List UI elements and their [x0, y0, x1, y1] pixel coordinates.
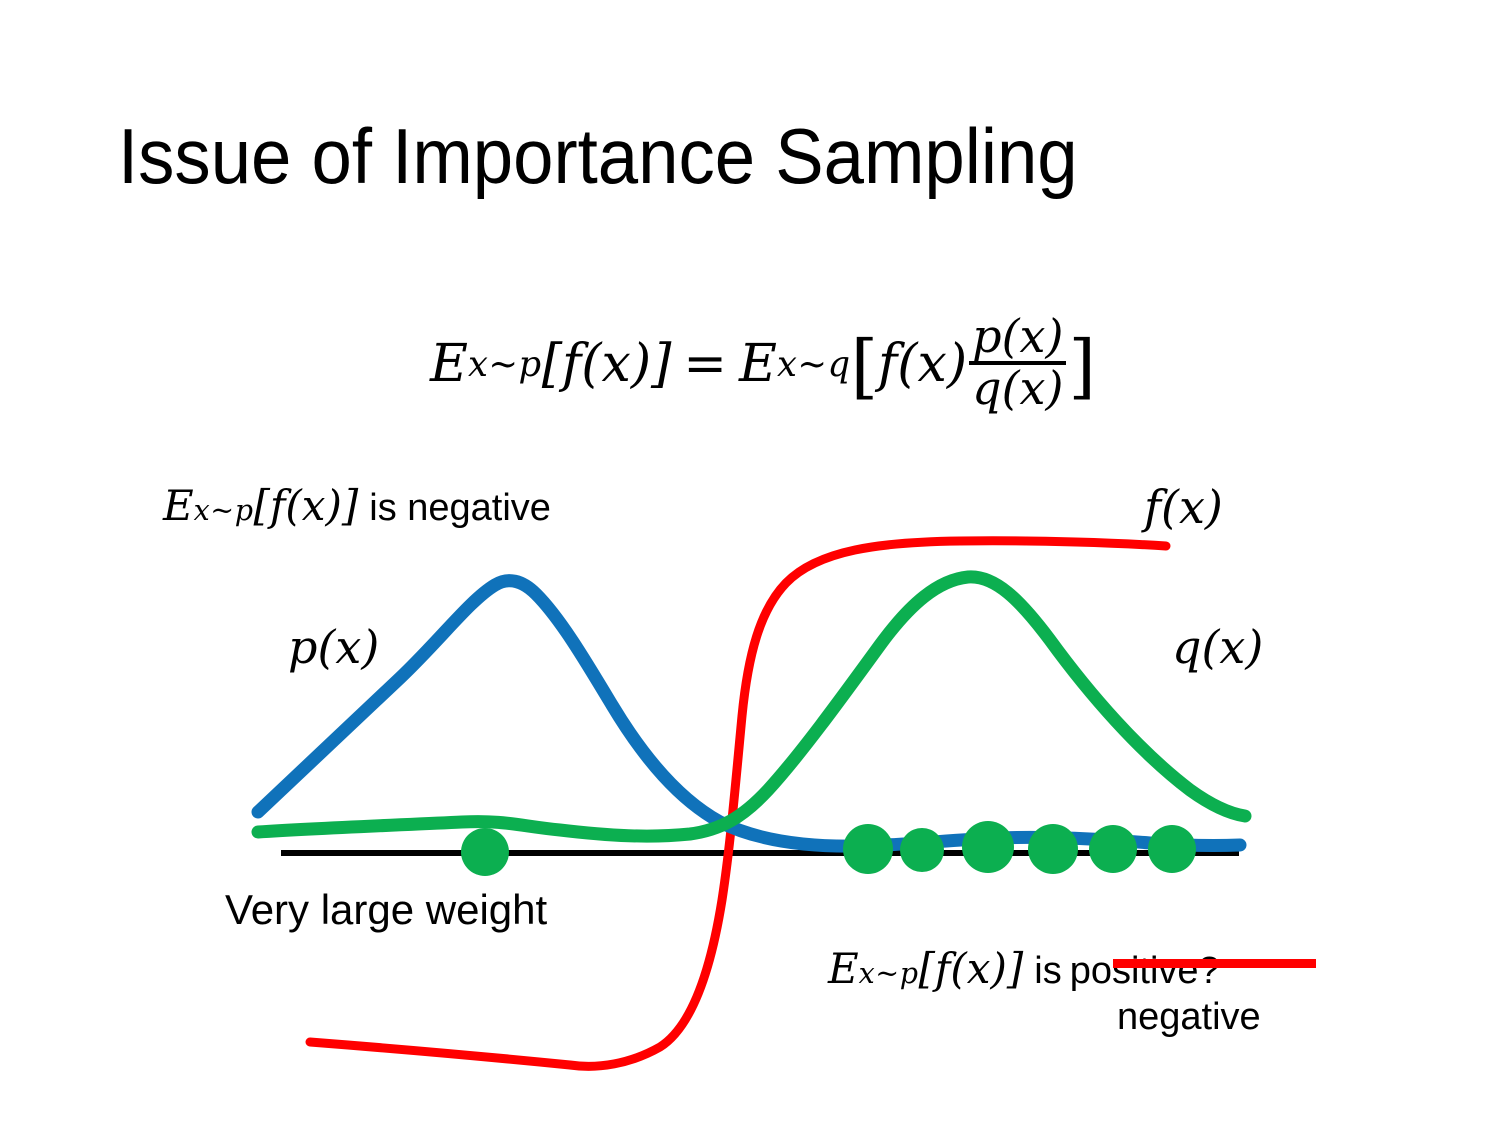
equation-rhs-E: E: [739, 334, 777, 394]
equation-lhs-body: [f(x)]: [542, 334, 672, 394]
equation-rhs-subscript: x~q: [777, 344, 851, 385]
equation-lhs-subscript: x~p: [468, 344, 542, 385]
sample-dot-right: [1148, 825, 1196, 873]
annotation-right-positive: Ex~p[f(x)] is positive?: [828, 944, 1220, 993]
main-equation: Ex~p[f(x)] = Ex~q[f(x) p(x) q(x) ]: [430, 315, 1096, 414]
annotation-right-struck-text: positive?: [1070, 950, 1220, 993]
very-large-weight-label: Very large weight: [225, 886, 547, 934]
strikethrough-line: [1113, 959, 1316, 968]
annotation-right-E: E: [828, 944, 859, 993]
annotation-left-subscript: x~p: [194, 493, 254, 527]
equation-rhs-f: f(x): [878, 334, 967, 394]
sample-dot-left: [461, 828, 509, 876]
annotation-left-E: E: [163, 481, 194, 530]
equation-fraction-denominator: q(x): [969, 365, 1066, 412]
equation-fraction-numerator: p(x): [969, 313, 1066, 360]
sample-dot-right: [962, 821, 1014, 873]
slide-canvas: Issue of Importance Sampling Ex~p[f(x)] …: [0, 0, 1500, 1125]
sample-dot-right: [1089, 825, 1137, 873]
curve-q-green: [258, 577, 1245, 836]
equation-lhs-E: E: [430, 334, 468, 394]
sample-dot-right: [843, 824, 893, 874]
annotation-right-correction: negative: [1117, 996, 1261, 1039]
equation-operator: =: [671, 334, 739, 394]
annotation-right-subscript: x~p: [859, 956, 919, 990]
sample-dot-right: [1028, 824, 1078, 874]
equation-rhs-open-bracket: [: [851, 338, 878, 394]
annotation-left-text: is negative: [369, 487, 551, 530]
curve-label-q: q(x): [1172, 620, 1263, 674]
annotation-left-negative: Ex~p[f(x)] is negative: [163, 481, 551, 530]
annotation-right-body: [f(x)]: [918, 944, 1023, 993]
annotation-left-body: [f(x)]: [253, 481, 358, 530]
page-title: Issue of Importance Sampling: [118, 117, 1078, 195]
curve-label-p: p(x): [288, 620, 379, 674]
equation-rhs-close-bracket: ]: [1068, 338, 1095, 394]
curve-p-blue: [258, 581, 1240, 846]
equation-fraction: p(x) q(x): [969, 313, 1066, 412]
annotation-right-text: is: [1034, 950, 1061, 993]
curve-label-f: f(x): [1144, 480, 1223, 534]
sample-dot-right: [900, 828, 944, 872]
